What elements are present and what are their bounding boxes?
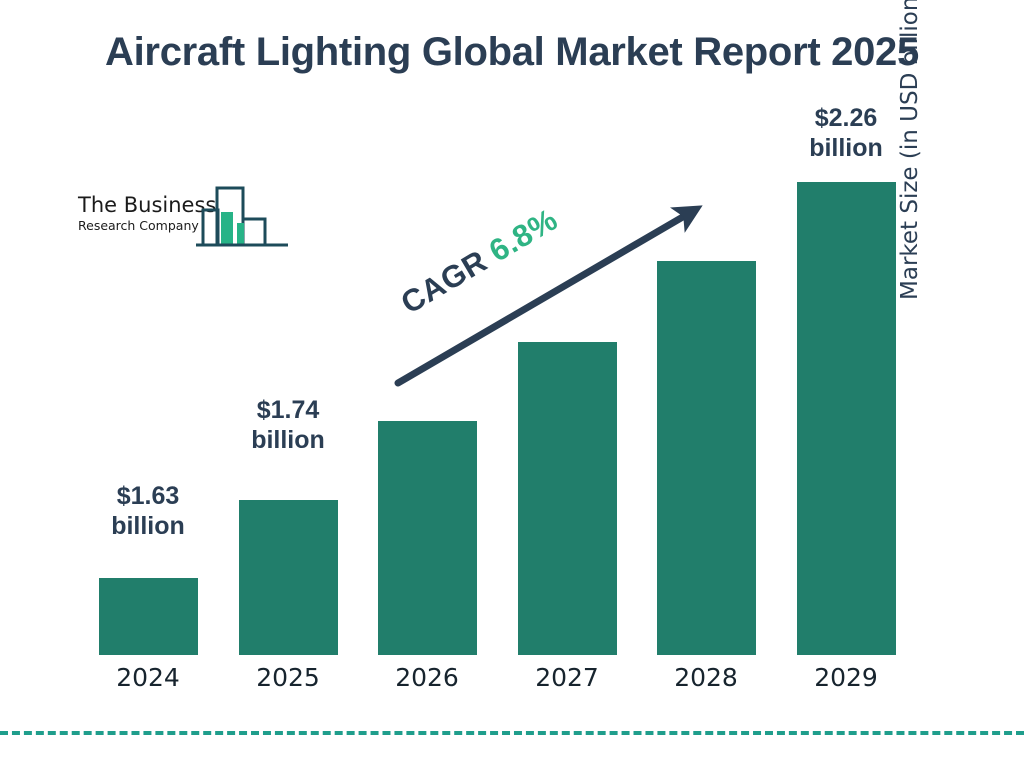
bar-2026 [378,421,477,655]
x-tick-2025: 2025 [213,663,363,692]
bar-chart-plot: $1.63 billion 2024 $1.74 billion 2025 20… [0,0,1024,768]
bar-2027 [518,342,617,655]
x-tick-2024: 2024 [73,663,223,692]
bar-2025 [239,500,338,655]
bar-value-2024: $1.63 billion [73,482,223,541]
x-tick-2027: 2027 [492,663,642,692]
footer-divider [0,731,1024,735]
x-tick-2029: 2029 [771,663,921,692]
y-axis-title: Market Size (in USD billion) [897,0,923,300]
bar-value-2025: $1.74 billion [213,396,363,455]
bar-2029 [797,182,896,655]
bar-2028 [657,261,756,655]
chart-page: Aircraft Lighting Global Market Report 2… [0,0,1024,768]
x-tick-2028: 2028 [631,663,781,692]
x-tick-2026: 2026 [352,663,502,692]
bar-2024 [99,578,198,655]
